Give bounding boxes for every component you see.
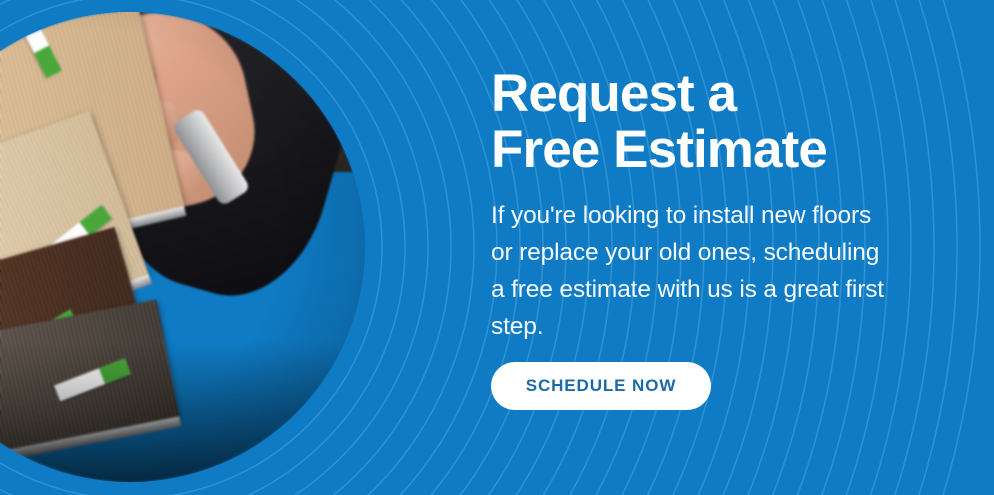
flooring-samples-photo (0, 12, 365, 482)
banner-description: If you're looking to install new floors … (491, 197, 891, 345)
schedule-now-button[interactable]: SCHEDULE NOW (491, 362, 711, 410)
table-reflection (0, 341, 365, 482)
page-title: Request a Free Estimate (491, 66, 827, 178)
request-estimate-banner: Request a Free Estimate If you're lookin… (0, 0, 994, 495)
banner-content: Request a Free Estimate If you're lookin… (491, 0, 961, 495)
